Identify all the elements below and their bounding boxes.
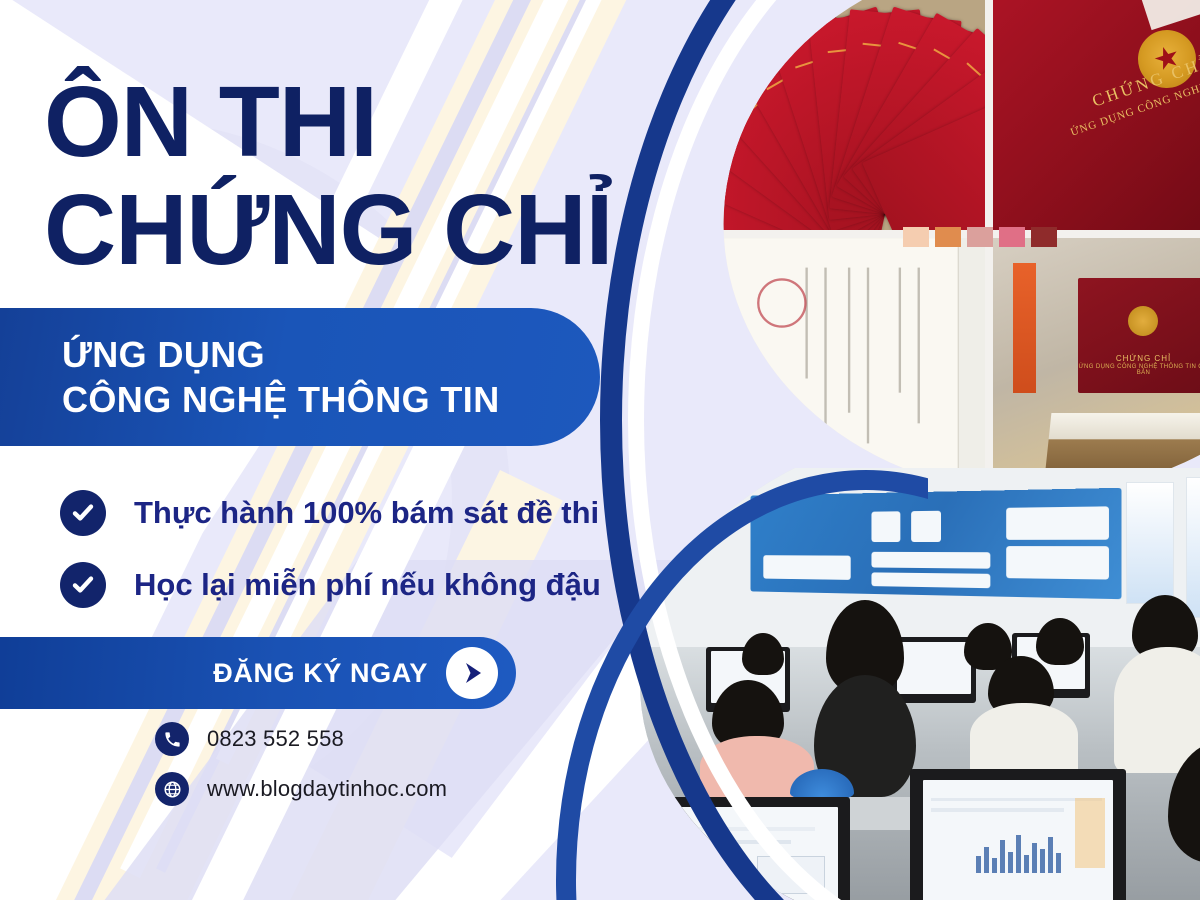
feature-label: Thực hành 100% bám sát đề thi xyxy=(134,495,599,531)
contact-website[interactable]: www.blogdaytinhoc.com xyxy=(155,772,447,806)
feature-list: Thực hành 100% bám sát đề thi Học lại mi… xyxy=(60,490,601,608)
certificate-cover-image: BỘ GIÁO DỤC VÀ ĐÀO TẠO CHỨNG CHỈ ỨNG DỤN… xyxy=(993,0,1200,230)
feature-item: Thực hành 100% bám sát đề thi xyxy=(60,490,601,536)
arrow-right-icon[interactable] xyxy=(446,647,498,699)
orange-banner-strip xyxy=(1013,263,1036,393)
subtitle-banner: ỨNG DỤNG CÔNG NGHỆ THÔNG TIN xyxy=(0,308,600,446)
phone-icon xyxy=(155,722,189,756)
headline-line-1: ÔN THI xyxy=(44,66,377,178)
paper-sheet xyxy=(1130,0,1200,30)
register-now-button[interactable]: ĐĂNG KÝ NGAY xyxy=(0,637,516,709)
page-title: ÔN THI CHỨNG CHỈ xyxy=(44,68,612,284)
student-head-back-3 xyxy=(1036,618,1084,665)
wall-poster-1 xyxy=(1126,482,1174,604)
cert-subtitle: ỨNG DỤNG CÔNG NGHỆ THÔNG TIN CƠ BẢN xyxy=(1078,364,1200,376)
teacher-body xyxy=(1114,647,1200,774)
check-circle-icon xyxy=(60,490,106,536)
check-circle-icon xyxy=(60,562,106,608)
subtitle-line-2: CÔNG NGHỆ THÔNG TIN xyxy=(62,377,600,422)
cta-label: ĐĂNG KÝ NGAY xyxy=(213,658,428,689)
certificate-cover: CHỨNG CHỈ ỨNG DỤNG CÔNG NGHỆ THÔNG TIN C… xyxy=(1078,278,1200,393)
wall-poster-2 xyxy=(1186,477,1200,618)
website-url: www.blogdaytinhoc.com xyxy=(207,776,447,802)
certificate-stack-image: CHỨNG CHỈ ỨNG DỤNG CÔNG NGHỆ THÔNG TIN C… xyxy=(993,238,1200,488)
feature-label: Học lại miễn phí nếu không đậu xyxy=(134,567,601,603)
emblem-icon xyxy=(1128,306,1158,336)
subtitle-line-1: ỨNG DỤNG xyxy=(62,332,600,377)
phone-number: 0823 552 558 xyxy=(207,726,344,752)
feature-item: Học lại miễn phí nếu không đậu xyxy=(60,562,601,608)
globe-icon xyxy=(155,772,189,806)
excel-chart-bars xyxy=(976,830,1061,873)
cert-title: CHỨNG CHỈ xyxy=(1078,354,1200,363)
contact-phone[interactable]: 0823 552 558 xyxy=(155,722,447,756)
promo-banner: BỘ GIÁO DỤC VÀ ĐÀO TẠO CHỨNG CHỈ ỨNG DỤN… xyxy=(0,0,1200,900)
contact-list: 0823 552 558 www.blogdaytinhoc.com xyxy=(155,722,447,806)
headline-line-2: CHỨNG CHỈ xyxy=(44,176,612,284)
